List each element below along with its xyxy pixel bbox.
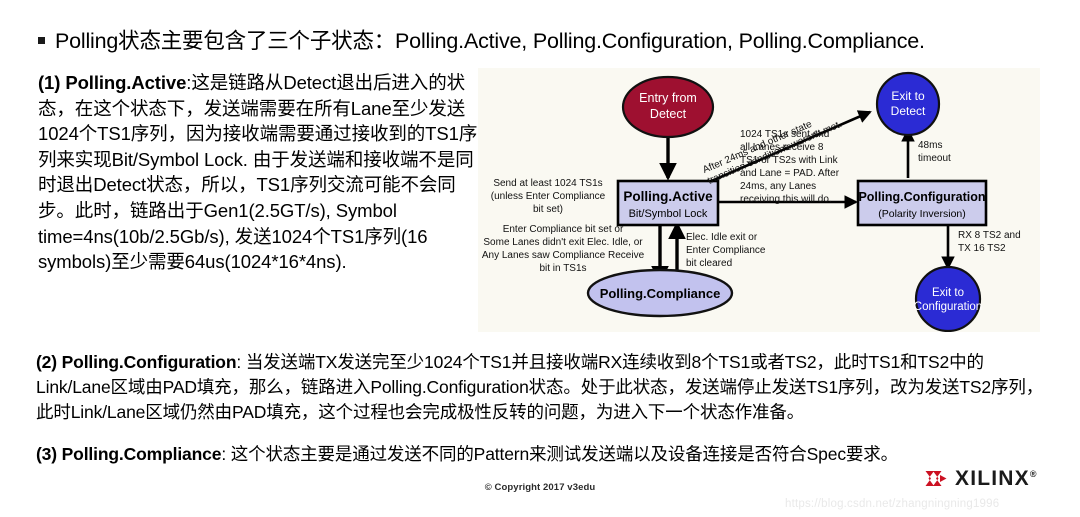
copyright-text: © Copyright 2017 v3edu [0, 482, 1080, 493]
svg-text:RX 8 TS2 and: RX 8 TS2 and [958, 230, 1021, 241]
svg-text:Elec. Idle exit or: Elec. Idle exit or [686, 232, 758, 243]
svg-text:Any Lanes saw Compliance Recei: Any Lanes saw Compliance Receive [482, 250, 645, 261]
svg-text:Enter Compliance: Enter Compliance [686, 245, 766, 256]
node-exit-to-detect: Exit to Detect [877, 73, 939, 135]
paragraph-polling-active: (1) Polling.Active:这是链路从Detect退出后进入的状态，在… [38, 70, 486, 275]
polling-configuration-subtitle: (Polarity Inversion) [878, 208, 966, 220]
svg-text:bit cleared: bit cleared [686, 258, 732, 269]
node-polling-compliance: Polling.Compliance [588, 270, 732, 316]
xilinx-wordmark: XILINX® [955, 468, 1037, 489]
exit-to-detect-line1: Exit to [891, 89, 925, 103]
paragraph-polling-compliance: (3) Polling.Compliance: 这个状态主要是通过发送不同的Pa… [36, 442, 1048, 467]
svg-text:bit in TS1s: bit in TS1s [539, 263, 586, 274]
square-bullet-icon [38, 37, 45, 44]
svg-text:24ms, any Lanes: 24ms, any Lanes [740, 181, 816, 192]
polling-configuration-title: Polling.Configuration [858, 190, 985, 204]
svg-text:and Lane = PAD. After: and Lane = PAD. After [740, 168, 840, 179]
node-polling-active: Polling.Active Bit/Symbol Lock [618, 181, 718, 225]
paragraph-three-body: : 这个状态主要是通过发送不同的Pattern来测试发送端以及设备连接是否符合S… [221, 444, 898, 464]
polling-active-subtitle: Bit/Symbol Lock [629, 208, 708, 220]
svg-text:Enter Compliance bit set or: Enter Compliance bit set or [503, 224, 624, 235]
paragraph-polling-configuration: (2) Polling.Configuration: 当发送端TX发送完至少10… [36, 350, 1048, 425]
paragraph-one-label: (1) Polling.Active [38, 72, 186, 93]
svg-text:TX 16 TS2: TX 16 TS2 [958, 243, 1006, 254]
svg-text:all Lanes receive 8: all Lanes receive 8 [740, 142, 824, 153]
paragraph-one-body: :这是链路从Detect退出后进入的状态，在这个状态下，发送端需要在所有Lane… [38, 72, 477, 272]
svg-text:timeout: timeout [918, 153, 951, 164]
polling-state-diagram: Entry from Detect Exit to Detect Polling… [478, 68, 1040, 332]
polling-compliance-title: Polling.Compliance [600, 286, 721, 301]
svg-text:(unless Enter Compliance: (unless Enter Compliance [491, 191, 606, 202]
xilinx-logo: XILINX® [925, 468, 1037, 489]
node-polling-configuration: Polling.Configuration (Polarity Inversio… [858, 181, 986, 225]
svg-text:Send at least 1024 TS1s: Send at least 1024 TS1s [493, 178, 602, 189]
node-exit-to-configuration: Exit to Configuration [914, 267, 982, 331]
headline-text: Polling状态主要包含了三个子状态：Polling.Active, Poll… [55, 28, 925, 54]
exit-to-detect-line2: Detect [891, 104, 926, 118]
svg-text:receiving this will do.: receiving this will do. [740, 194, 832, 205]
svg-text:48ms: 48ms [918, 140, 942, 151]
svg-text:1024 TS1s sent and: 1024 TS1s sent and [740, 129, 829, 140]
entry-from-detect-line2: Detect [650, 107, 687, 121]
watermark-url: https://blog.csdn.net/zhangningning1996 [785, 498, 999, 510]
entry-from-detect-line1: Entry from [639, 91, 697, 105]
svg-text:Some Lanes didn't exit Elec. I: Some Lanes didn't exit Elec. Idle, or [483, 237, 643, 248]
polling-active-title: Polling.Active [623, 189, 713, 204]
headline-bullet-row: Polling状态主要包含了三个子状态：Polling.Active, Poll… [38, 28, 1048, 54]
xilinx-mark-icon [925, 470, 947, 487]
slide-canvas: Polling状态主要包含了三个子状态：Polling.Active, Poll… [0, 0, 1080, 517]
exit-to-configuration-line1: Exit to [932, 287, 964, 299]
svg-text:TS1 or TS2s with Link: TS1 or TS2s with Link [740, 155, 839, 166]
paragraph-three-label: (3) Polling.Compliance [36, 444, 221, 464]
svg-text:bit set): bit set) [533, 204, 563, 215]
paragraph-two-label: (2) Polling.Configuration [36, 352, 236, 372]
exit-to-configuration-line2: Configuration [914, 301, 982, 313]
node-entry-from-detect: Entry from Detect [623, 77, 713, 137]
